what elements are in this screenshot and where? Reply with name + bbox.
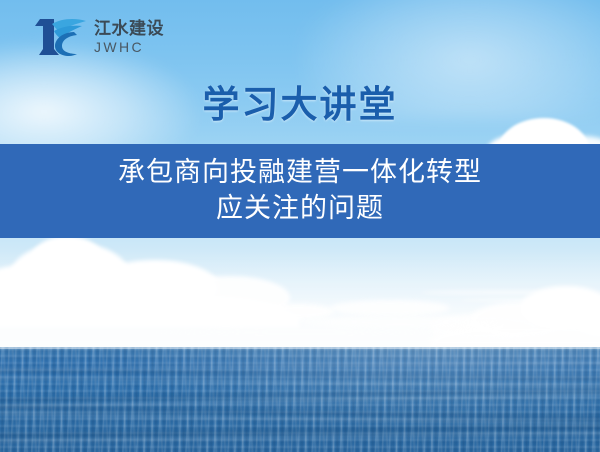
ocean-background — [0, 347, 600, 452]
cloud-tuft — [196, 316, 256, 327]
cloud-streak — [150, 330, 450, 334]
subtitle-line-1: 承包商向投融建营一体化转型 — [118, 155, 482, 191]
logo-company-name-en: JWHC — [94, 40, 164, 54]
company-logo[interactable]: 江水建设 JWHC — [30, 14, 180, 58]
logo-company-name-cn: 江水建设 — [94, 20, 164, 37]
subtitle-banner: 承包商向投融建营一体化转型 应关注的问题 — [0, 144, 600, 238]
subtitle-line-2: 应关注的问题 — [216, 191, 384, 227]
cloud-tuft — [262, 304, 334, 319]
presentation-slide: 江水建设 JWHC 学习大讲堂 承包商向投融建营一体化转型 应关注的问题 — [0, 0, 600, 452]
logo-wordmark: 江水建设 JWHC — [94, 18, 164, 54]
cloud-streak — [420, 290, 595, 295]
jwhc-wave-logo-icon — [30, 15, 88, 57]
page-title: 学习大讲堂 — [0, 74, 600, 128]
horizon-line — [0, 347, 600, 349]
cloud-bank-left — [0, 236, 300, 326]
ocean-sheen — [0, 347, 600, 452]
cloud-tuft — [300, 316, 500, 328]
cloud-streak — [460, 298, 600, 302]
cloud-tuft — [330, 300, 450, 316]
